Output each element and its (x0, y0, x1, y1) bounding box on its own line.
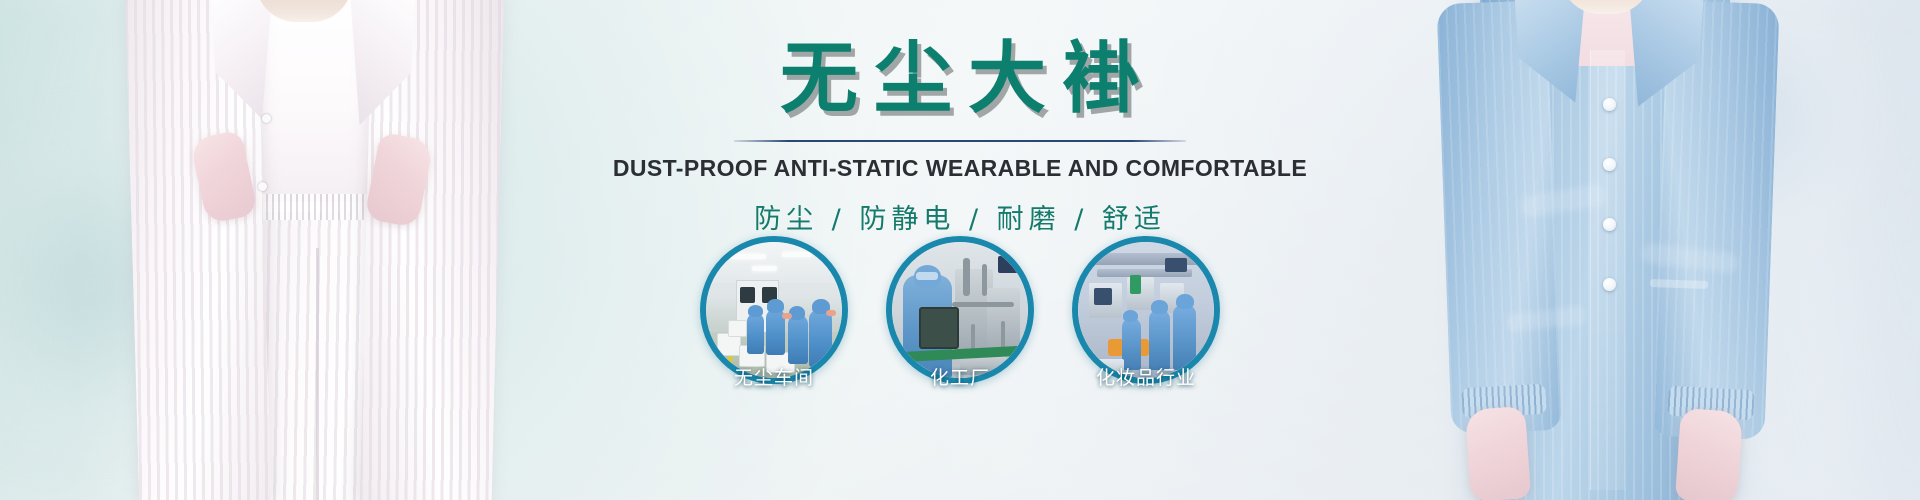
product-banner: 无尘大褂 DUST-PROOF ANTI-STATIC WEARABLE AND… (0, 0, 1920, 500)
model-left-glove (1465, 406, 1531, 500)
banner-feature-list: 防尘 / 防静电 / 耐磨 / 舒适 (754, 197, 1166, 236)
title-divider (734, 140, 1186, 142)
labcoat-button (1603, 158, 1616, 171)
banner-title: 无尘大褂 (764, 40, 1156, 118)
labcoat-button (1603, 218, 1616, 231)
cleanroom-photo (706, 242, 842, 378)
application-badge-cleanroom[interactable]: 无尘车间 (700, 236, 848, 384)
labcoat-button (1603, 98, 1616, 111)
banner-subtitle-english: DUST-PROOF ANTI-STATIC WEARABLE AND COMF… (613, 155, 1307, 182)
badge-label: 无尘车间 (734, 363, 814, 390)
badge-label: 化工厂 (930, 363, 990, 390)
application-badge-cosmetics[interactable]: 化妆品行业 (1072, 236, 1220, 384)
labcoat-button (262, 114, 271, 123)
model-right-glove (1675, 408, 1743, 500)
cosmetics-industry-photo (1078, 242, 1214, 378)
application-badge-chemical-plant[interactable]: 化工厂 (886, 236, 1034, 384)
badge-ring (700, 236, 848, 384)
chemical-plant-photo (892, 242, 1028, 378)
labcoat-button (258, 182, 267, 191)
badge-ring (1072, 236, 1220, 384)
badge-label: 化妆品行业 (1096, 363, 1196, 390)
application-badge-row: 无尘车间 (0, 236, 1920, 384)
badge-ring (886, 236, 1034, 384)
